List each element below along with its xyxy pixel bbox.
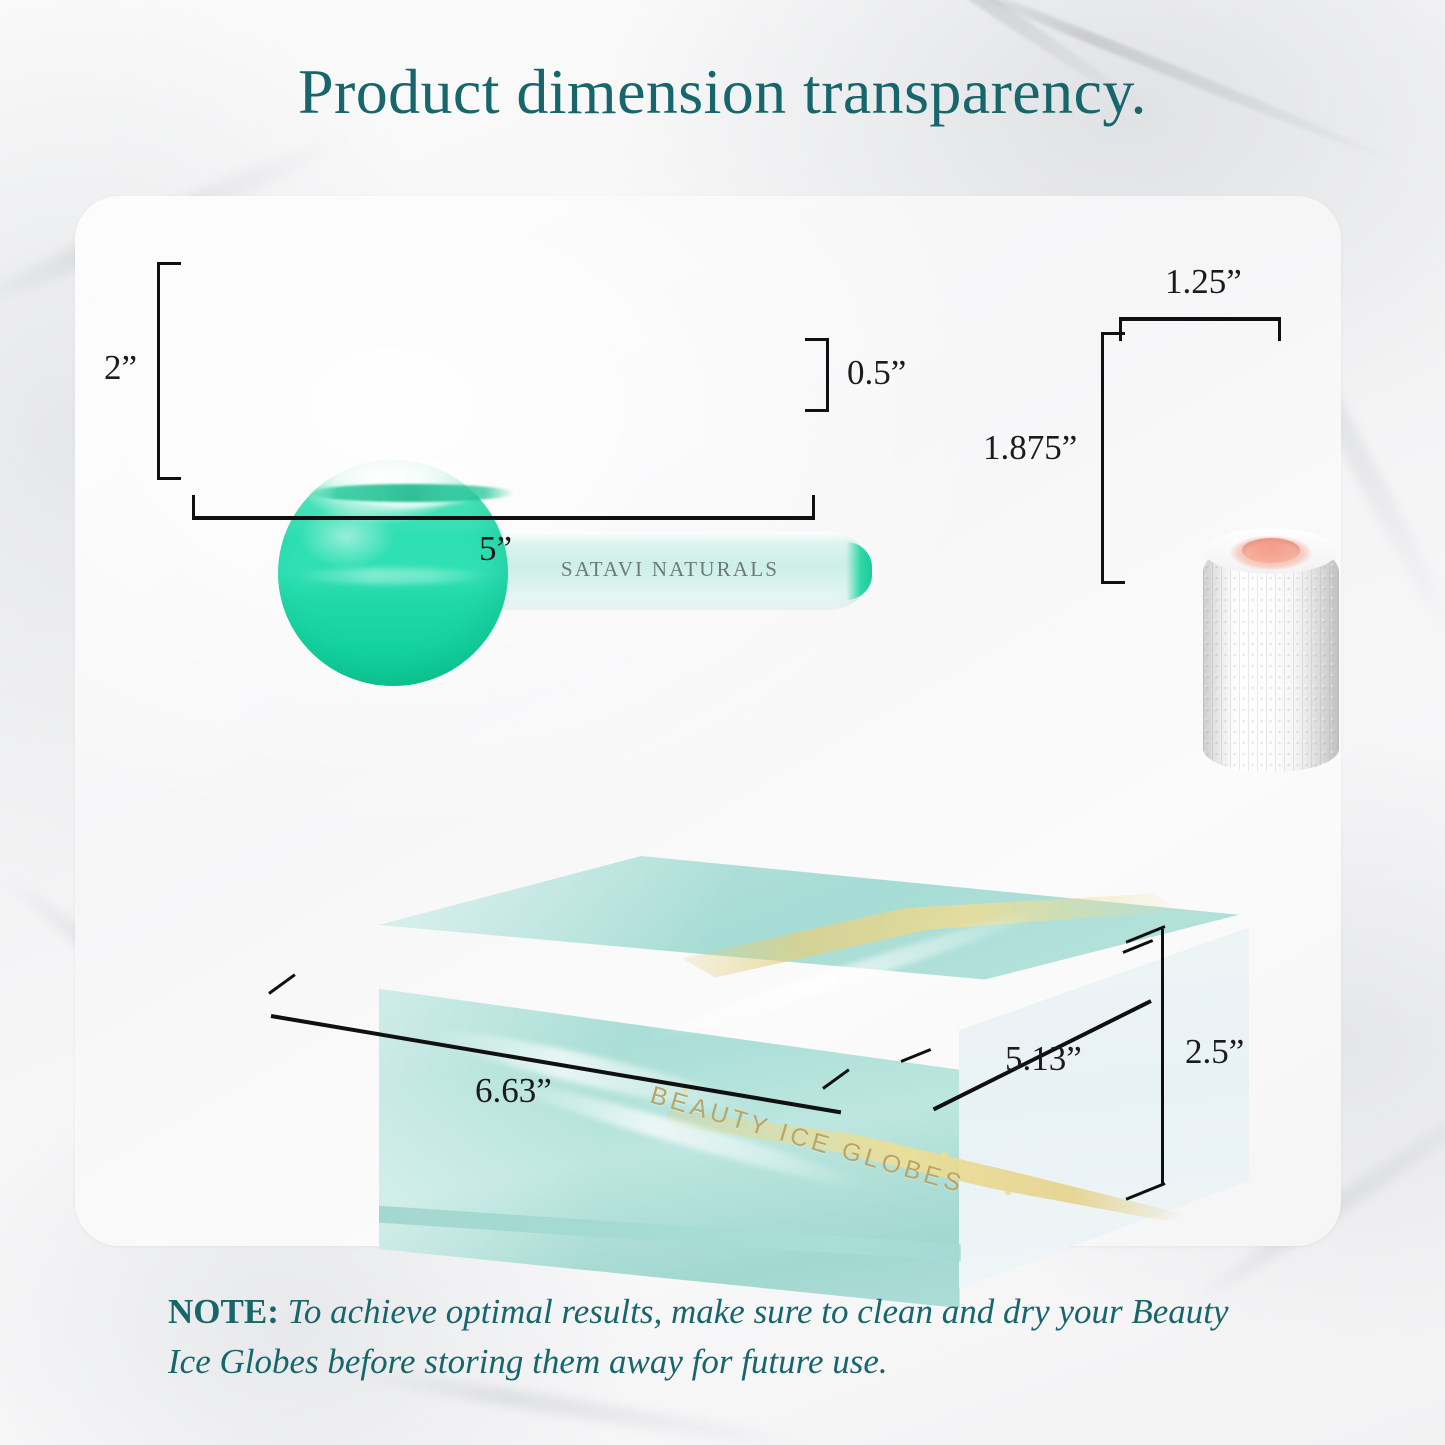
ice-globe-illustration: SATAVI NATURALS — [260, 458, 920, 698]
infographic-page: Product dimension transparency. SATAVI N… — [0, 0, 1445, 1445]
note-text: NOTE: To achieve optimal results, make s… — [168, 1287, 1278, 1386]
box-gold-fleck — [977, 1174, 986, 1181]
box-gold-fleck — [941, 1152, 948, 1158]
roller-body — [1203, 540, 1339, 772]
globe-length-label: 5” — [479, 529, 512, 569]
box-gold-fleck — [1037, 1182, 1042, 1186]
globe-length-bracket-line — [192, 516, 815, 520]
box-width-bracket-tick-left — [268, 973, 296, 994]
gift-box-illustration: BEAUTY ICE GLOBES — [337, 856, 1237, 1316]
globe-height-bracket-tick-bottom — [157, 477, 181, 480]
globe-height-bracket-tick-top — [157, 262, 181, 265]
note-body: To achieve optimal results, make sure to… — [168, 1292, 1229, 1381]
product-card: SATAVI NATURALS 2” 0.5” 5” — [75, 196, 1341, 1246]
globe-handle-bracket-tick-top — [805, 338, 829, 341]
silicone-roller-illustration — [1203, 526, 1339, 776]
roller-inner-cavity — [1242, 538, 1300, 563]
box-height-bracket-line — [1161, 929, 1164, 1185]
globe-handle-bracket-line — [826, 338, 829, 412]
box-gold-fleck — [1005, 1190, 1011, 1195]
globe-handle-bracket-tick-bottom — [805, 409, 829, 412]
roller-width-bracket-line — [1119, 317, 1281, 321]
globe-length-bracket-tick-right — [812, 495, 815, 520]
globe-length-bracket-tick-left — [192, 495, 195, 520]
roller-height-bracket-line — [1101, 332, 1104, 584]
box-width-label: 6.63” — [475, 1071, 552, 1111]
roller-height-label: 1.875” — [983, 428, 1077, 468]
box-height-label: 2.5” — [1185, 1032, 1244, 1072]
globe-handle-label: 0.5” — [847, 353, 906, 393]
roller-width-bracket-tick-right — [1278, 317, 1281, 341]
box-right-face — [959, 928, 1249, 1288]
box-depth-label: 5.13” — [1005, 1039, 1082, 1079]
roller-width-bracket-tick-left — [1119, 317, 1122, 341]
roller-height-bracket-tick-bottom — [1101, 581, 1125, 584]
globe-ball — [278, 460, 508, 686]
globe-height-bracket-line — [157, 262, 160, 480]
globe-ball-sheen — [292, 568, 492, 584]
globe-brand-label: SATAVI NATURALS — [510, 557, 830, 582]
note-lead: NOTE: — [168, 1292, 279, 1331]
roller-height-bracket-tick-top — [1101, 332, 1125, 335]
roller-width-label: 1.25” — [1165, 262, 1242, 302]
globe-ball-rim — [308, 484, 514, 502]
page-title: Product dimension transparency. — [0, 58, 1445, 125]
globe-handle-tip — [846, 542, 872, 600]
roller-shading — [1203, 540, 1339, 772]
globe-height-label: 2” — [104, 348, 137, 388]
